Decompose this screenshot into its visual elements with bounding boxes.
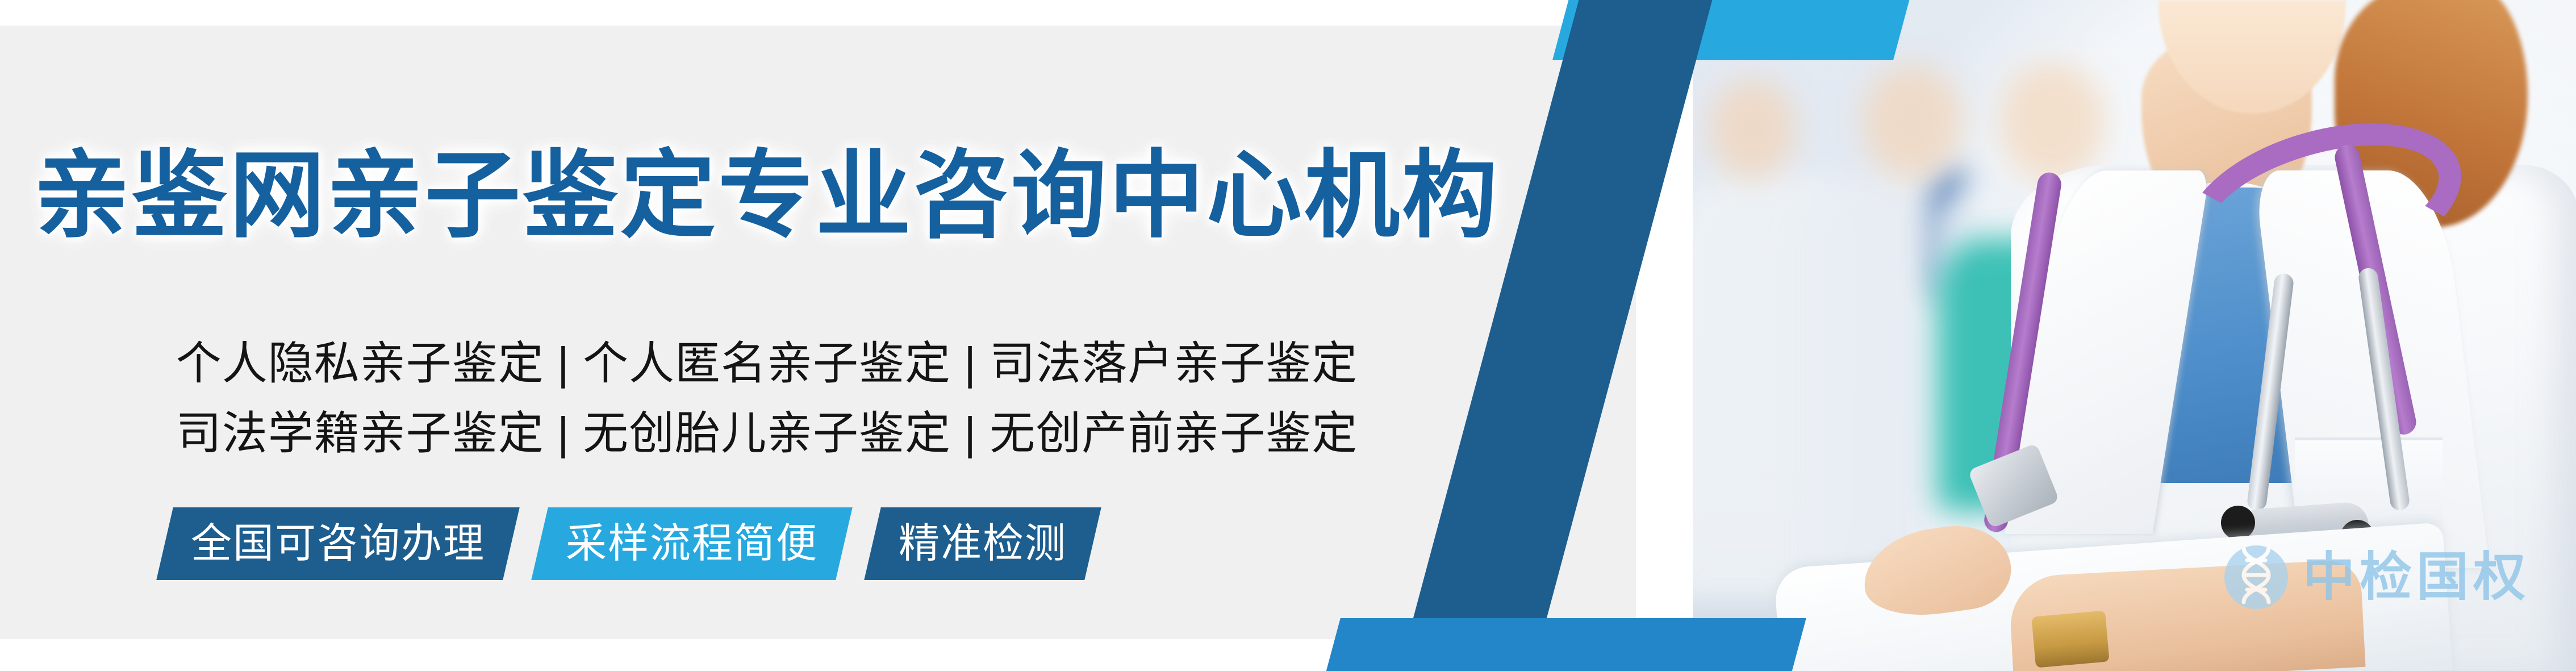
stethoscope-eartip-left [2221,506,2255,540]
banner-subtitle-line-2: 司法学籍亲子鉴定 | 无创胎儿亲子鉴定 | 无创产前亲子鉴定 [0,411,1534,456]
promo-banner: 亲鉴网亲子鉴定专业咨询中心机构 个人隐私亲子鉴定 | 个人匿名亲子鉴定 | 司法… [0,0,2576,671]
dna-helix-icon [2224,545,2288,609]
feature-tag-accurate-testing[interactable]: 精准检测 [864,507,1101,580]
feature-tag-label: 采样流程简便 [566,523,818,564]
watermark-text: 中检国权 [2303,551,2530,603]
background-colleague-3-head [1999,62,2105,182]
doctor-wristwatch [2031,611,2109,668]
feature-tag-simple-sampling[interactable]: 采样流程简便 [531,507,853,580]
banner-title: 亲鉴网亲子鉴定专业咨询中心机构 [0,148,1534,243]
brand-watermark: 中检国权 [2224,545,2530,609]
feature-tag-label: 精准检测 [899,523,1067,564]
banner-content: 亲鉴网亲子鉴定专业咨询中心机构 个人隐私亲子鉴定 | 个人匿名亲子鉴定 | 司法… [0,26,1562,639]
feature-tag-nationwide-consultation[interactable]: 全国可咨询办理 [156,507,520,580]
background-colleague-1-head [1710,80,1795,179]
feature-tag-label: 全国可咨询办理 [191,523,485,564]
feature-tag-list: 全国可咨询办理 采样流程简便 精准检测 [165,507,1093,580]
banner-subtitle-line-1: 个人隐私亲子鉴定 | 个人匿名亲子鉴定 | 司法落户亲子鉴定 [0,341,1534,386]
background-colleague-2-head [1863,65,1963,179]
